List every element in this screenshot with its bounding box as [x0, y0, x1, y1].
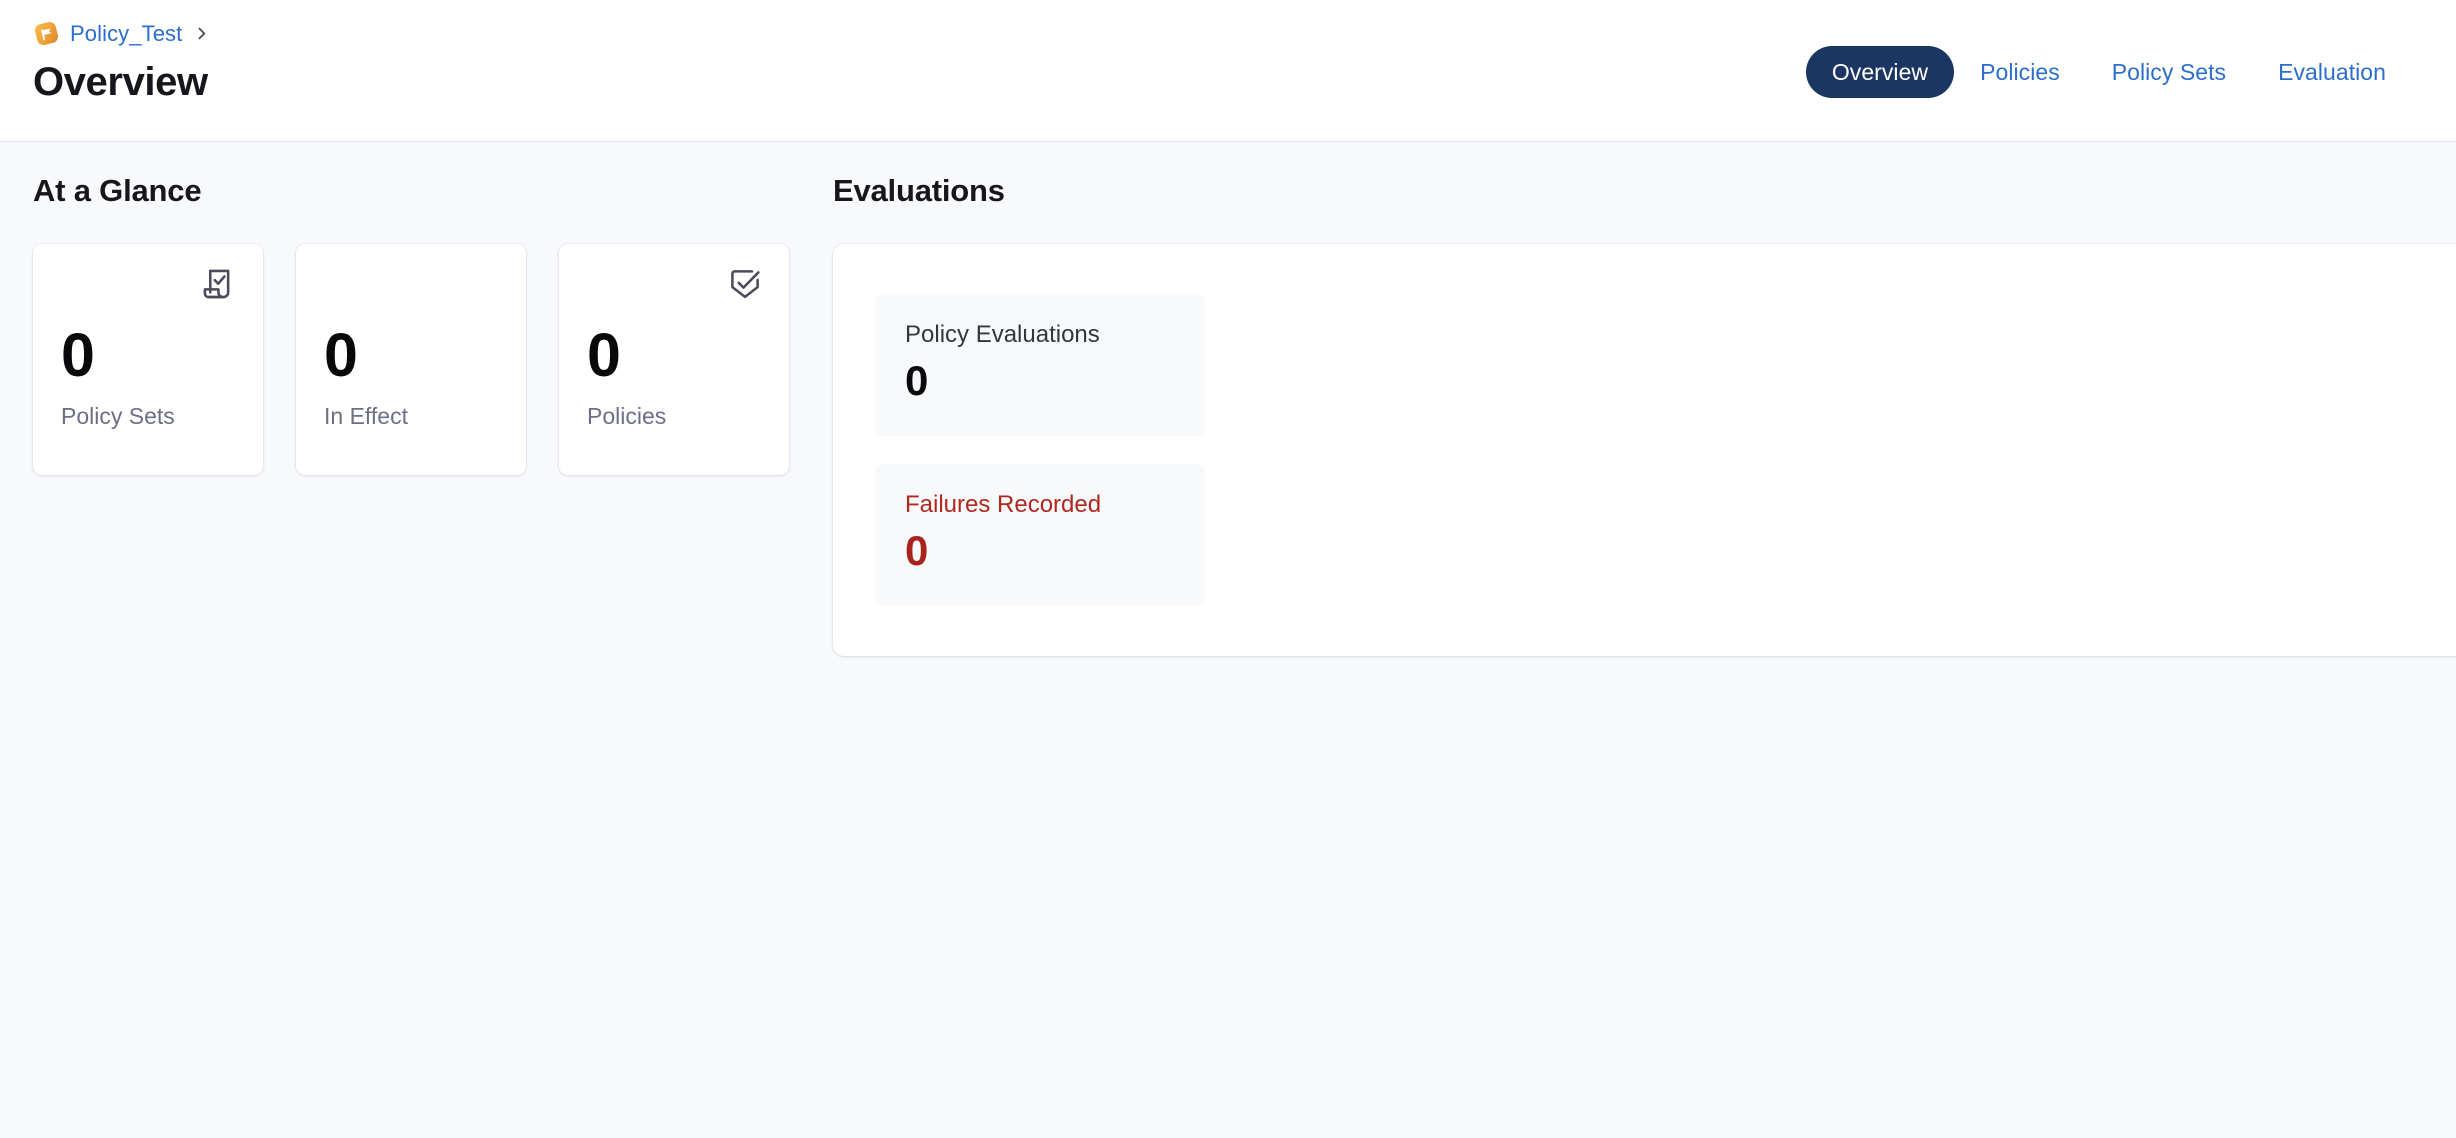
page-title: Overview [33, 58, 209, 106]
stat-card-policies[interactable]: 0 Policies [559, 244, 789, 475]
chevron-right-icon [194, 26, 209, 41]
page-body: At a Glance 0 Policy Sets [0, 142, 2456, 1138]
stat-label: Policy Sets [61, 402, 237, 430]
stat-icon-slot [61, 266, 237, 318]
scroll-check-icon [201, 266, 237, 302]
eval-tile-value: 0 [905, 526, 1175, 576]
stat-label: Policies [587, 402, 763, 430]
stat-value: 0 [61, 322, 237, 388]
policy-flag-icon [33, 20, 60, 47]
stat-card-in-effect[interactable]: 0 In Effect [296, 244, 526, 475]
eval-tile-failures-recorded[interactable]: Failures Recorded 0 [875, 464, 1205, 606]
stat-label: In Effect [324, 402, 500, 430]
eval-tile-label: Policy Evaluations [905, 320, 1175, 350]
breadcrumb-link-policy-test[interactable]: Policy_Test [70, 20, 182, 47]
at-a-glance-section: At a Glance 0 Policy Sets [0, 142, 833, 475]
main-nav: Overview Policies Policy Sets Evaluation [1806, 46, 2412, 98]
eval-tile-label: Failures Recorded [905, 490, 1175, 520]
app-header: Policy_Test Overview Overview Policies P… [0, 0, 2456, 142]
stat-icon-slot [587, 266, 763, 318]
shield-check-icon [727, 266, 763, 302]
eval-tile-value: 0 [905, 356, 1175, 406]
stat-value: 0 [587, 322, 763, 388]
nav-item-overview[interactable]: Overview [1806, 46, 1954, 98]
nav-item-policies[interactable]: Policies [1954, 46, 2086, 98]
evaluations-panel: Policy Evaluations 0 Failures Recorded 0 [833, 244, 2456, 656]
stat-card-row: 0 Policy Sets 0 In Effect [33, 244, 833, 475]
evaluations-section: Evaluations Policy Evaluations 0 Failure… [833, 142, 2456, 656]
evaluations-title: Evaluations [833, 172, 2456, 210]
header-left: Policy_Test Overview [33, 18, 209, 106]
stat-value: 0 [324, 322, 500, 388]
nav-item-policy-sets[interactable]: Policy Sets [2086, 46, 2252, 98]
at-a-glance-title: At a Glance [33, 172, 833, 210]
nav-item-evaluation[interactable]: Evaluation [2252, 46, 2412, 98]
stat-card-policy-sets[interactable]: 0 Policy Sets [33, 244, 263, 475]
stat-icon-slot [324, 266, 500, 318]
eval-tile-policy-evaluations[interactable]: Policy Evaluations 0 [875, 294, 1205, 436]
breadcrumb: Policy_Test [33, 18, 209, 48]
